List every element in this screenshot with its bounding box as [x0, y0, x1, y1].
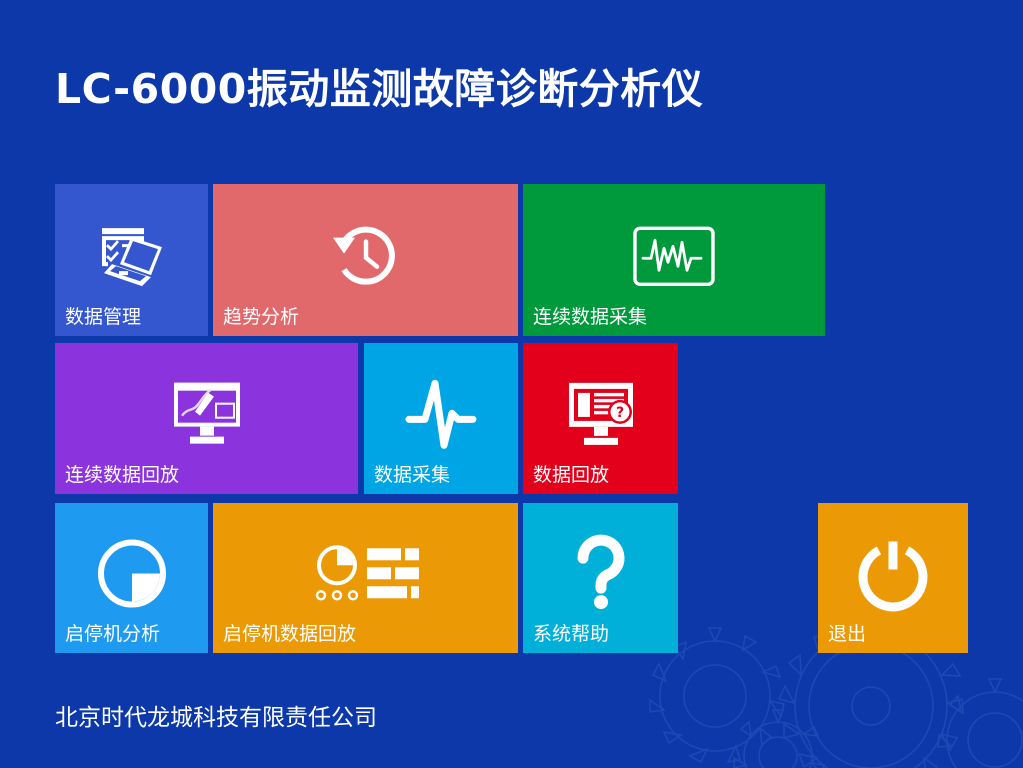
start-screen: LC-6000振动监测故障诊断分析仪 数据管理 [0, 0, 1023, 768]
page-title: LC-6000振动监测故障诊断分析仪 [55, 64, 703, 115]
tile-label: 连续数据采集 [533, 306, 647, 329]
monitor-chart-icon [55, 378, 358, 450]
power-icon [818, 535, 968, 611]
tile-label: 系统帮助 [533, 623, 609, 646]
tile-label: 数据回放 [533, 464, 609, 487]
laptop-checklist-icon [55, 224, 208, 288]
tile-label: 数据采集 [374, 464, 450, 487]
tile-trend-analysis[interactable]: 趋势分析 [213, 184, 518, 336]
tile-continuous-data-playback[interactable]: 连续数据回放 [55, 343, 358, 494]
tile-startup-shutdown-analysis[interactable]: 启停机分析 [55, 503, 208, 653]
question-mark-icon [523, 532, 678, 614]
pie-list-icon [213, 543, 518, 605]
waveform-screen-icon [523, 225, 825, 287]
pulse-icon [364, 375, 518, 453]
tile-startup-shutdown-data-playback[interactable]: 启停机数据回放 [213, 503, 518, 653]
tile-data-management[interactable]: 数据管理 [55, 184, 208, 336]
tile-label: 启停机数据回放 [223, 623, 356, 646]
tile-label: 数据管理 [65, 306, 141, 329]
svg-text:?: ? [615, 404, 623, 420]
footer-company-name: 北京时代龙城科技有限责任公司 [55, 698, 377, 732]
tile-label: 趋势分析 [223, 306, 299, 329]
tile-label: 启停机分析 [65, 623, 160, 646]
tile-continuous-data-acquisition[interactable]: 连续数据采集 [523, 184, 825, 336]
clock-history-icon [213, 220, 518, 292]
tile-label: 退出 [828, 623, 866, 646]
tile-exit[interactable]: 退出 [818, 503, 968, 653]
tile-data-playback[interactable]: ? 数据回放 [523, 343, 678, 494]
tile-data-acquisition[interactable]: 数据采集 [364, 343, 518, 494]
tile-system-help[interactable]: 系统帮助 [523, 503, 678, 653]
pie-chart-icon [55, 537, 208, 611]
monitor-question-icon: ? [523, 380, 678, 448]
tile-label: 连续数据回放 [65, 464, 179, 487]
